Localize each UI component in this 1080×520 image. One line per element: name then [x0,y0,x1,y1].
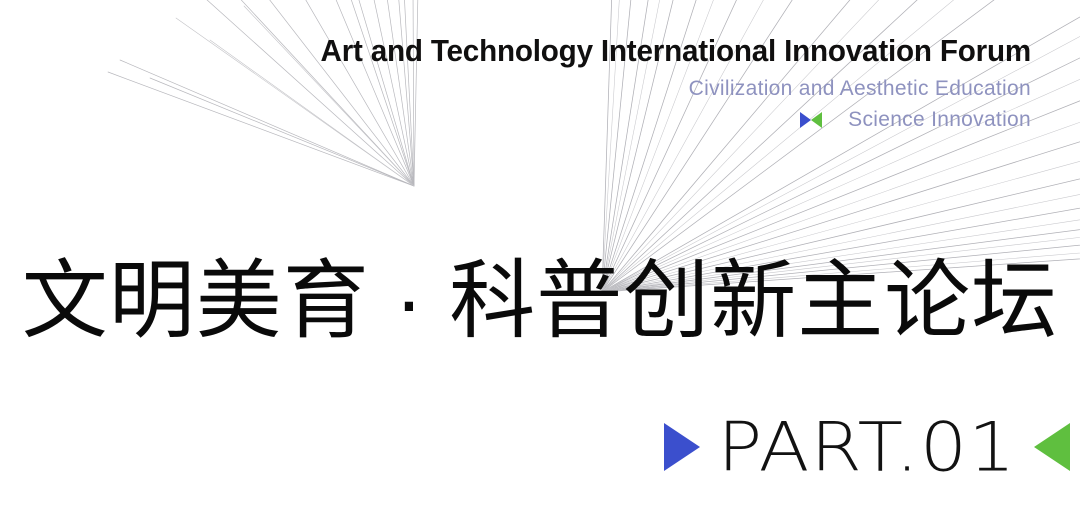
presentation-slide: Art and Technology International Innovat… [0,0,1080,520]
main-title: Art and Technology International Innovat… [46,34,1031,69]
triangle-right-large-icon [664,423,700,471]
chinese-headline: 文明美育 · 科普创新主论坛 [0,258,1080,344]
subtitle-arrow-pair [800,112,822,128]
title-block: Art and Technology International Innovat… [0,34,1031,135]
section-marker-label: PART.01 [718,413,1017,481]
subtitle-line-2-row: Science Innovation [0,106,1031,135]
triangle-right-icon [800,112,811,128]
triangle-left-icon [811,112,822,128]
subtitle-line-1: Civilization and Aesthetic Education [0,75,1031,104]
triangle-left-large-icon [1034,423,1070,471]
section-marker: PART.01 [664,412,1070,482]
subtitle-line-2-label: Science Innovation [848,106,1031,135]
